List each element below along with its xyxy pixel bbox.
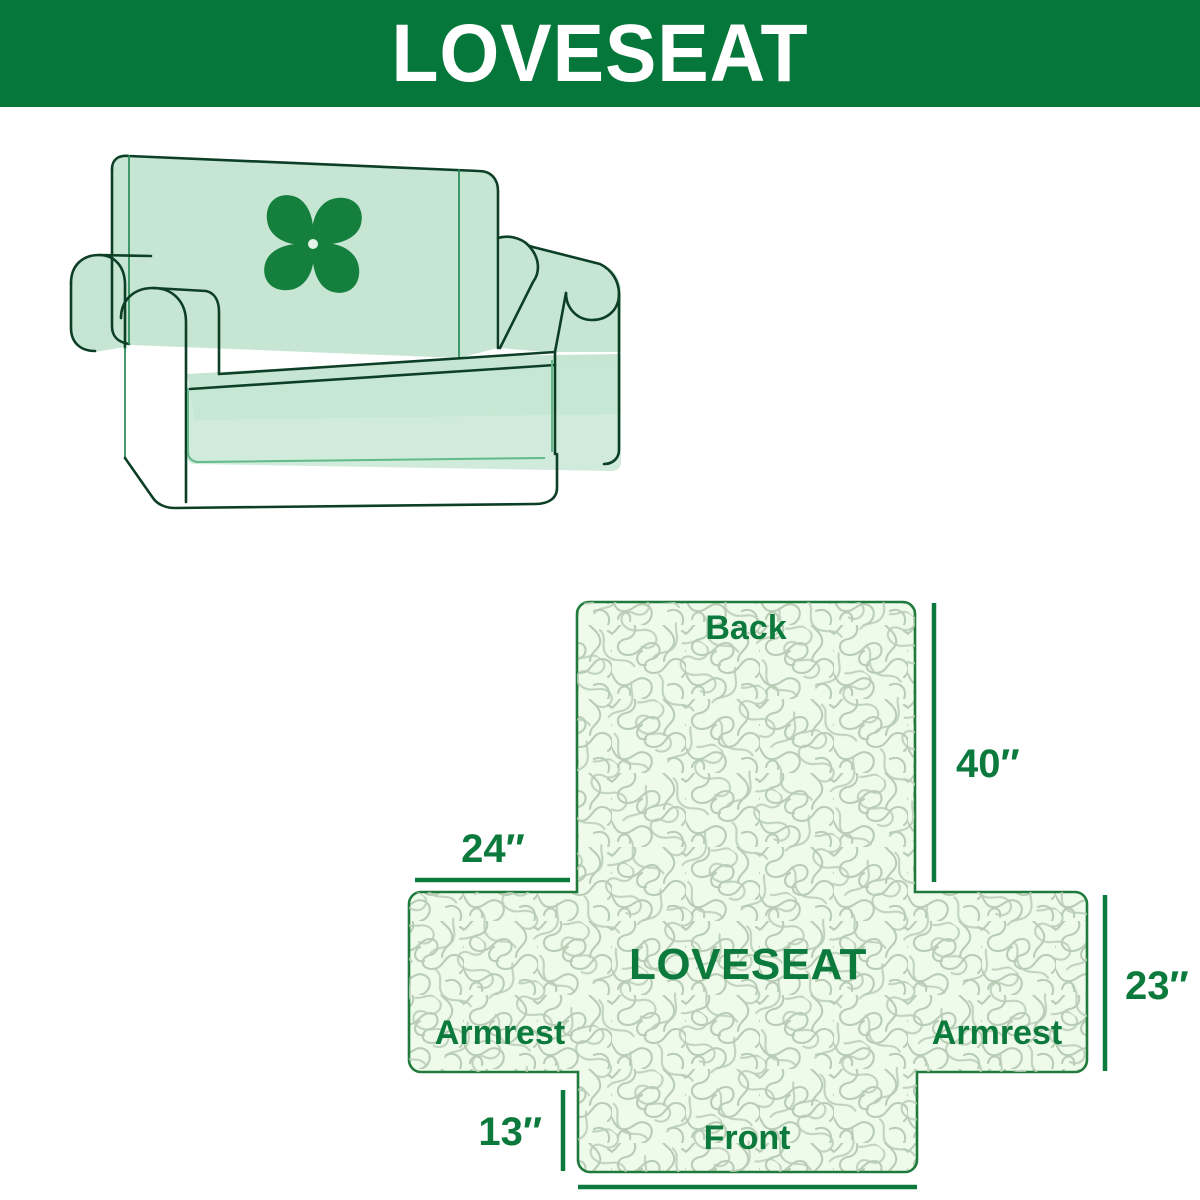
sofa-back-right-fill (459, 170, 498, 358)
sofa-left-arm-top (99, 255, 151, 256)
panel-label-armrest-left: Armrest (435, 1014, 565, 1052)
dimension-label-total-width: 46 (725, 1190, 770, 1197)
cover-cross-shape (409, 602, 1087, 1172)
fan-hub (308, 239, 318, 249)
panel-label-center: LOVESEAT (629, 940, 867, 989)
dimension-label-seat-depth: 23″ (1125, 964, 1189, 1008)
content-stage: Back LOVESEAT Armrest Armrest Front 40″ (0, 107, 1200, 1200)
dimension-label-front-height: 13″ (478, 1110, 542, 1154)
dimension-label-back-width: 24″ (461, 827, 525, 871)
dimension-label-back-height: 40″ (956, 742, 1020, 786)
header-banner: LOVESEAT (0, 0, 1200, 107)
cover-layout-diagram: Back LOVESEAT Armrest Armrest Front 40″ (390, 477, 1190, 1197)
panel-label-back: Back (705, 609, 786, 647)
cover-texture-overlay (409, 602, 1087, 1172)
page-title: LOVESEAT (391, 13, 808, 95)
panel-label-armrest-right: Armrest (932, 1014, 1062, 1052)
panel-label-front: Front (704, 1119, 791, 1157)
